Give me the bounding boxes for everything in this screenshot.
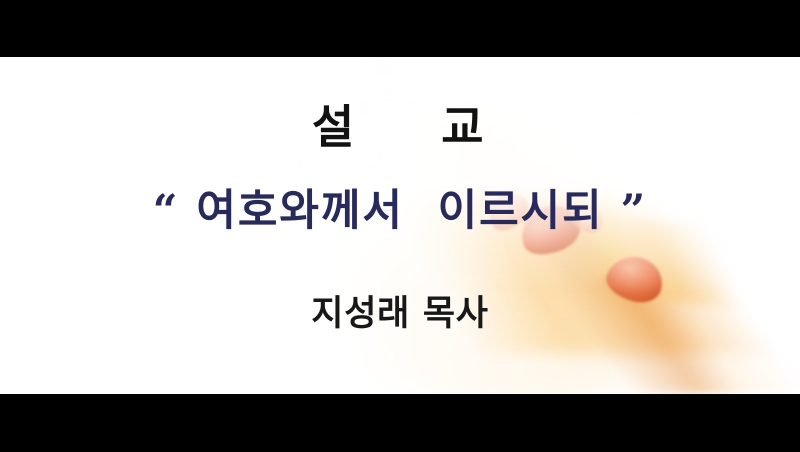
sermon-scripture-quote: “ 여호와께서 이르시되 ” <box>0 190 800 233</box>
letterbox-bar-top <box>0 0 800 57</box>
letterbox-bar-bottom <box>0 394 800 452</box>
sermon-title: 설 교 <box>0 104 800 150</box>
slide-text-block: 설 교 “ 여호와께서 이르시되 ” 지성래 목사 <box>0 57 800 394</box>
video-frame: 설 교 “ 여호와께서 이르시되 ” 지성래 목사 <box>0 0 800 452</box>
sermon-speaker-name: 지성래 목사 <box>0 297 800 332</box>
sermon-title-slide: 설 교 “ 여호와께서 이르시되 ” 지성래 목사 <box>0 57 800 394</box>
